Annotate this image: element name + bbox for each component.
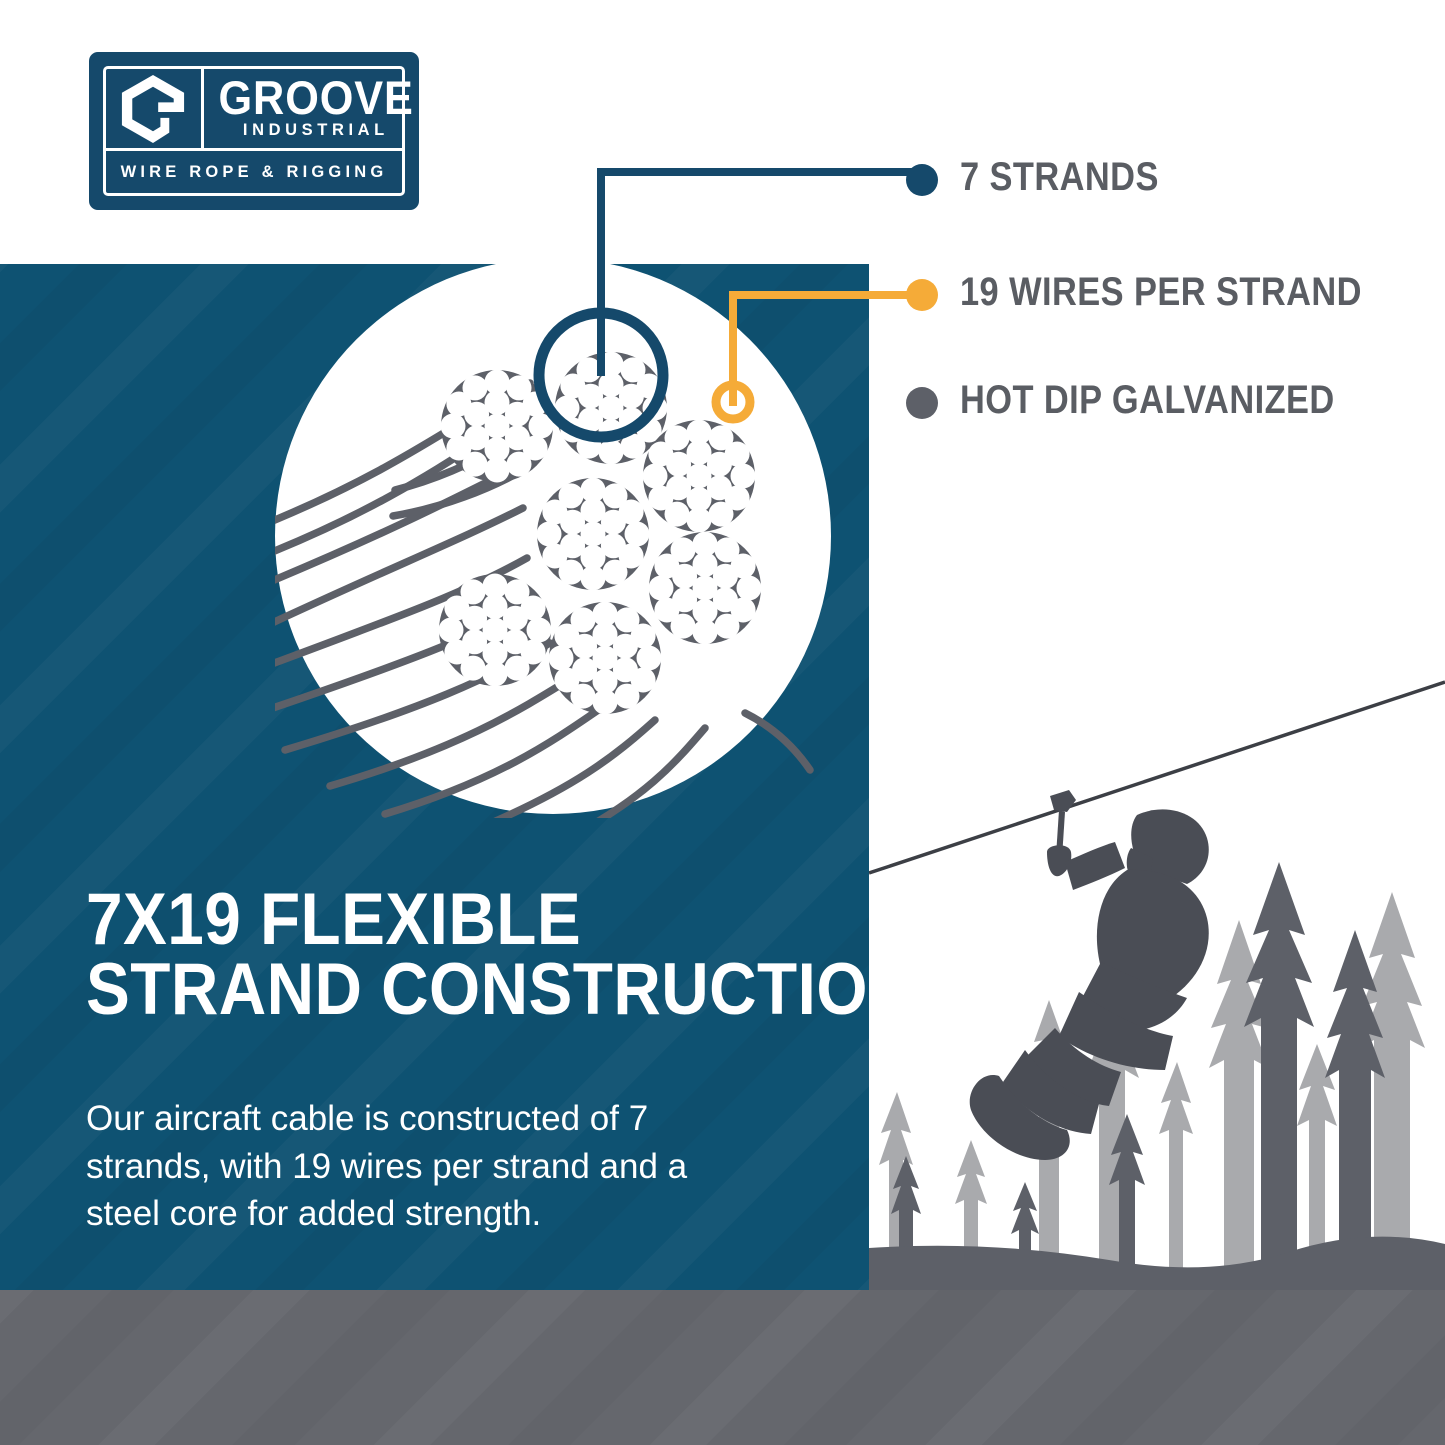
callout-dot-galvanized[interactable] [906, 387, 938, 419]
brand-logo[interactable]: GROOVE INDUSTRIAL WIRE ROPE & RIGGING [89, 52, 419, 210]
callout-dot-wires[interactable] [906, 279, 938, 311]
callout-label-wires: 19 WIRES PER STRAND [960, 270, 1362, 315]
callout-label-strands: 7 STRANDS [960, 155, 1159, 200]
connector-line-wires [733, 295, 922, 402]
body-paragraph: Our aircraft cable is constructed of 7 s… [86, 1095, 746, 1238]
headline-block: 7X19 FLEXIBLE STRAND CONSTRUCTION [86, 885, 846, 1025]
logo-tagline-text: WIRE ROPE & RIGGING [121, 163, 388, 182]
infographic-canvas: GROOVE INDUSTRIAL WIRE ROPE & RIGGING [0, 0, 1445, 1445]
callout-label-galvanized: HOT DIP GALVANIZED [960, 378, 1335, 423]
logo-wordmark: GROOVE INDUSTRIAL [204, 69, 422, 148]
logo-tagline-bar: WIRE ROPE & RIGGING [106, 148, 402, 193]
headline-line-1: 7X19 FLEXIBLE [86, 885, 770, 955]
footer-bar [0, 1290, 1445, 1445]
zipline-forest-scene [869, 600, 1445, 1290]
logo-subbrand-text: INDUSTRIAL [243, 121, 389, 140]
callout-dot-strands[interactable] [906, 164, 938, 196]
logo-inner-frame: GROOVE INDUSTRIAL WIRE ROPE & RIGGING [103, 66, 405, 196]
connector-line-strands [601, 172, 922, 372]
groove-g-mark-icon [106, 69, 204, 148]
footer-bar-texture [0, 1290, 1445, 1445]
logo-brand-text: GROOVE [218, 77, 413, 118]
logo-frame: GROOVE INDUSTRIAL WIRE ROPE & RIGGING [89, 52, 419, 210]
logo-top-row: GROOVE INDUSTRIAL [106, 69, 402, 148]
callout-connectors [560, 150, 960, 440]
headline-line-2: STRAND CONSTRUCTION [86, 955, 770, 1025]
